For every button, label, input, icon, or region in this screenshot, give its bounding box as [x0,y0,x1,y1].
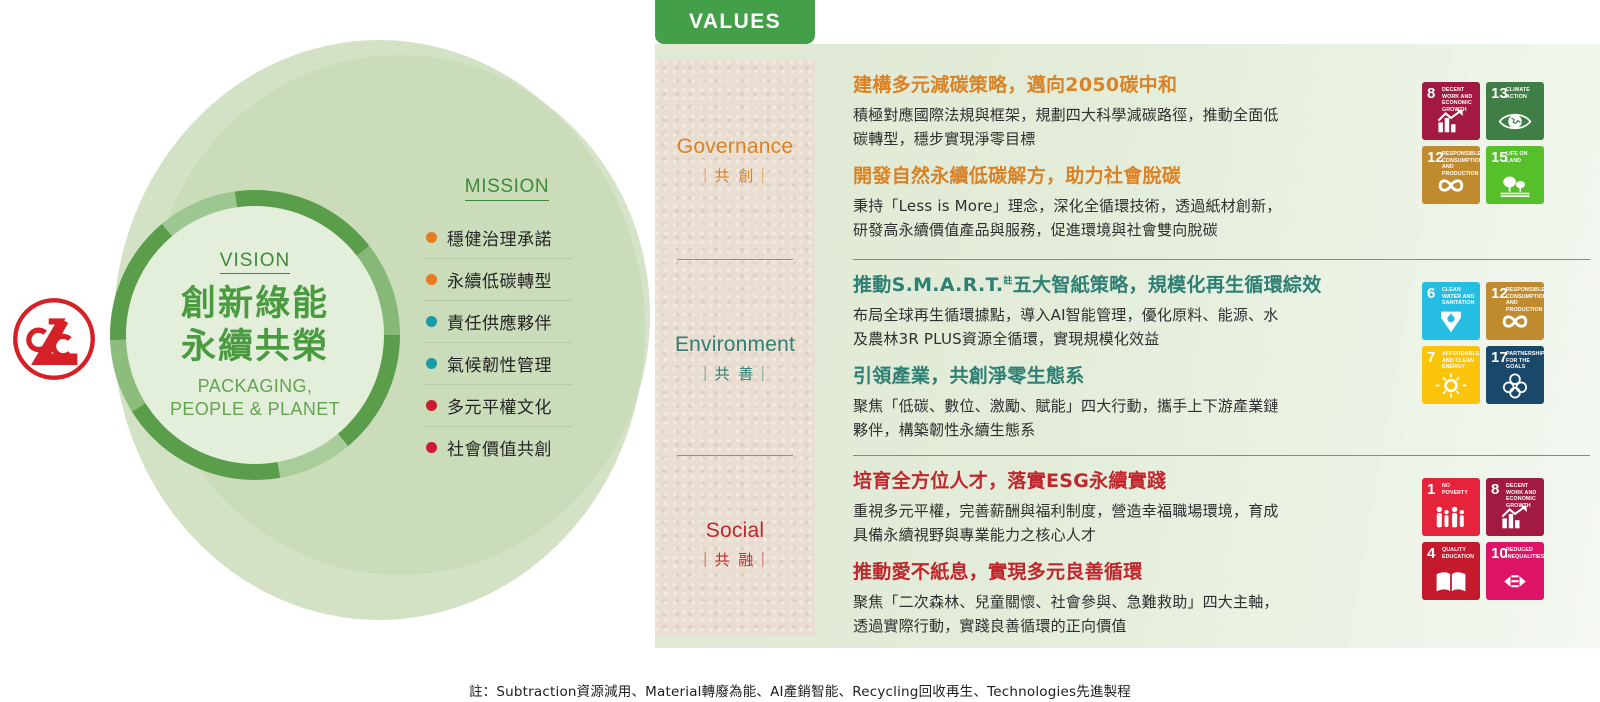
sdg-grid: 6Clean Water and Sanitation12Responsible… [1422,282,1544,404]
values-body: Governance｜共 創｜建構多元減碳策略，邁向2050碳中和積極對應國際法… [655,44,1600,648]
mission-item: 穩健治理承諾 [424,217,572,259]
values-section: Social｜共 融｜培育全方位人才，落實ESG永續實踐重視多元平權，完善薪酬與… [655,456,1600,632]
sdg-grid: 8Decent Work and Economic Growth13Climat… [1422,82,1544,204]
mission-item-label: 穩健治理承諾 [447,225,552,250]
sdg-number: 7 [1427,350,1435,365]
sdg-title: Partnerships for the Goals [1506,351,1541,371]
values-rows: Governance｜共 創｜建構多元減碳策略，邁向2050碳中和積極對應國際法… [655,60,1600,632]
sdg-badge: 6Clean Water and Sanitation [1422,282,1480,340]
sdg-badge-group: 1No Poverty8Decent Work and Economic Gro… [1422,478,1544,600]
footnote-marker: 註 [1003,277,1012,287]
growth-chart-icon [1486,502,1544,532]
mission-item: 社會價值共創 [424,427,572,468]
sdg-badge: 13Climate Action [1486,82,1544,140]
vision-circle-content: VISION 創新綠能 永續共榮 PACKAGING, PEOPLE & PLA… [126,206,384,464]
values-category: Governance｜共 創｜ [655,60,815,260]
mission-title: MISSION [465,176,549,201]
mission-item: 責任供應夥伴 [424,301,572,343]
sdg-badge: 12Responsible Consumption and Production [1486,282,1544,340]
values-tab: VALUES [655,0,815,44]
sdg-badge-group: 8Decent Work and Economic Growth13Climat… [1422,82,1544,204]
sdg-grid: 1No Poverty8Decent Work and Economic Gro… [1422,478,1544,600]
sdg-badge: 8Decent Work and Economic Growth [1422,82,1480,140]
vision-label: VISION [220,250,290,274]
sdg-badge-group: 6Clean Water and Sanitation12Responsible… [1422,282,1544,404]
mission-item-label: 責任供應夥伴 [447,309,552,334]
family-group-icon [1422,502,1480,532]
bullet-dot-icon [426,316,437,327]
values-category: Environment｜共 善｜ [655,260,815,456]
bullet-dot-icon [426,442,437,453]
sdg-badge: 15Life on Land [1486,146,1544,204]
clc-logo-icon [10,295,98,383]
category-name-zh: ｜共 善｜ [698,363,773,384]
sdg-title: Quality Education [1442,547,1477,560]
values-category: Social｜共 融｜ [655,456,815,632]
values-block-body: 聚焦「二次森林、兒童關懷、社會參與、急難救助」四大主軸，透過實際行動，實踐良善循… [853,590,1293,639]
values-block-body: 積極對應國際法規與框架，規劃四大科學減碳路徑，推動全面低碳轉型，穩步實現淨零目標 [853,103,1293,152]
category-name-en: Governance [677,135,793,159]
sdg-number: 6 [1427,286,1435,301]
sdg-badge: 8Decent Work and Economic Growth [1486,478,1544,536]
sdg-title: Clean Water and Sanitation [1442,287,1477,307]
sdg-number: 8 [1427,86,1435,101]
vision-subtitle-line1: PACKAGING, [170,375,340,398]
values-block-body: 秉持「Less is More」理念，深化全循環技術，透過紙材創新，研發高永續價… [853,194,1293,243]
category-name-en: Social [706,519,764,543]
vision-subtitle-line2: PEOPLE & PLANET [170,398,340,421]
tree-land-icon [1486,170,1544,200]
values-block-body: 布局全球再生循環據點，導入AI智能管理，優化原料、能源、水及農林3R PLUS資… [853,303,1293,352]
sdg-title: Life on Land [1506,151,1541,164]
mission-item-label: 永續低碳轉型 [447,267,552,292]
sdg-badge: 12Responsible Consumption and Production [1422,146,1480,204]
mission-item-label: 氣候韌性管理 [447,351,552,376]
category-name-zh: ｜共 創｜ [698,165,773,186]
mission-list: 穩健治理承諾永續低碳轉型責任供應夥伴氣候韌性管理多元平權文化社會價值共創 [424,217,572,468]
sun-icon [1422,370,1480,400]
sdg-title: Reduced Inequalities [1506,547,1541,560]
sdg-title: Climate Action [1506,87,1541,100]
category-name-en: Environment [675,333,795,357]
mission-item-label: 社會價值共創 [447,435,552,460]
equality-arrows-icon [1486,566,1544,596]
sdg-badge: 1No Poverty [1422,478,1480,536]
mission-block: MISSION 穩健治理承諾永續低碳轉型責任供應夥伴氣候韌性管理多元平權文化社會… [424,176,572,468]
sdg-title: No Poverty [1442,483,1477,496]
sdg-badge: 10Reduced Inequalities [1486,542,1544,600]
values-pane: VALUES Governance｜共 創｜建構多元減碳策略，邁向2050碳中和… [655,0,1600,702]
water-drop-icon [1422,306,1480,336]
growth-chart-icon [1422,106,1480,136]
climate-eye-icon [1486,106,1544,136]
vision-circle: VISION 創新綠能 永續共榮 PACKAGING, PEOPLE & PLA… [110,190,400,480]
vision-headline-line1: 創新綠能 [181,283,329,326]
values-content: 推動S.M.A.R.T.註五大智紙策略，規模化再生循環綜效布局全球再生循環據點，… [815,260,1600,456]
values-content: 培育全方位人才，落實ESG永續實踐重視多元平權，完善薪酬與福利制度，營造幸福職場… [815,456,1600,632]
bullet-dot-icon [426,232,437,243]
bullet-dot-icon [426,400,437,411]
mission-item: 多元平權文化 [424,385,572,427]
bullet-dot-icon [426,358,437,369]
infinity-icon [1422,170,1480,200]
values-block-body: 聚焦「低碳、數位、激勵、賦能」四大行動，攜手上下游產業鏈夥伴，構築韌性永續生態系 [853,394,1293,443]
infographic-root: VISION 創新綠能 永續共榮 PACKAGING, PEOPLE & PLA… [0,0,1600,702]
sdg-number: 1 [1427,482,1435,497]
sdg-number: 8 [1491,482,1499,497]
sdg-number: 4 [1427,546,1435,561]
values-content: 建構多元減碳策略，邁向2050碳中和積極對應國際法規與框架，規劃四大科學減碳路徑… [815,60,1600,260]
sdg-badge: 7Affordable and Clean Energy [1422,346,1480,404]
infinity-icon [1486,306,1544,336]
vision-headline-line2: 永續共榮 [181,326,329,369]
open-book-icon [1422,566,1480,596]
mission-item-label: 多元平權文化 [447,393,552,418]
values-section: Governance｜共 創｜建構多元減碳策略，邁向2050碳中和積極對應國際法… [655,60,1600,260]
mission-item: 永續低碳轉型 [424,259,572,301]
partnership-circles-icon [1486,370,1544,400]
values-section: Environment｜共 善｜推動S.M.A.R.T.註五大智紙策略，規模化再… [655,260,1600,456]
vision-mission-pane: VISION 創新綠能 永續共榮 PACKAGING, PEOPLE & PLA… [0,0,655,702]
sdg-title: Affordable and Clean Energy [1442,351,1477,371]
footnote: 註：Subtraction資源減用、Material轉廢為能、AI產銷智能、Re… [0,680,1600,700]
values-block-body: 重視多元平權，完善薪酬與福利制度，營造幸福職場環境，育成具備永續視野與專業能力之… [853,499,1293,548]
sdg-badge: 17Partnerships for the Goals [1486,346,1544,404]
mission-item: 氣候韌性管理 [424,343,572,385]
sdg-badge: 4Quality Education [1422,542,1480,600]
bullet-dot-icon [426,274,437,285]
category-name-zh: ｜共 融｜ [698,549,773,570]
